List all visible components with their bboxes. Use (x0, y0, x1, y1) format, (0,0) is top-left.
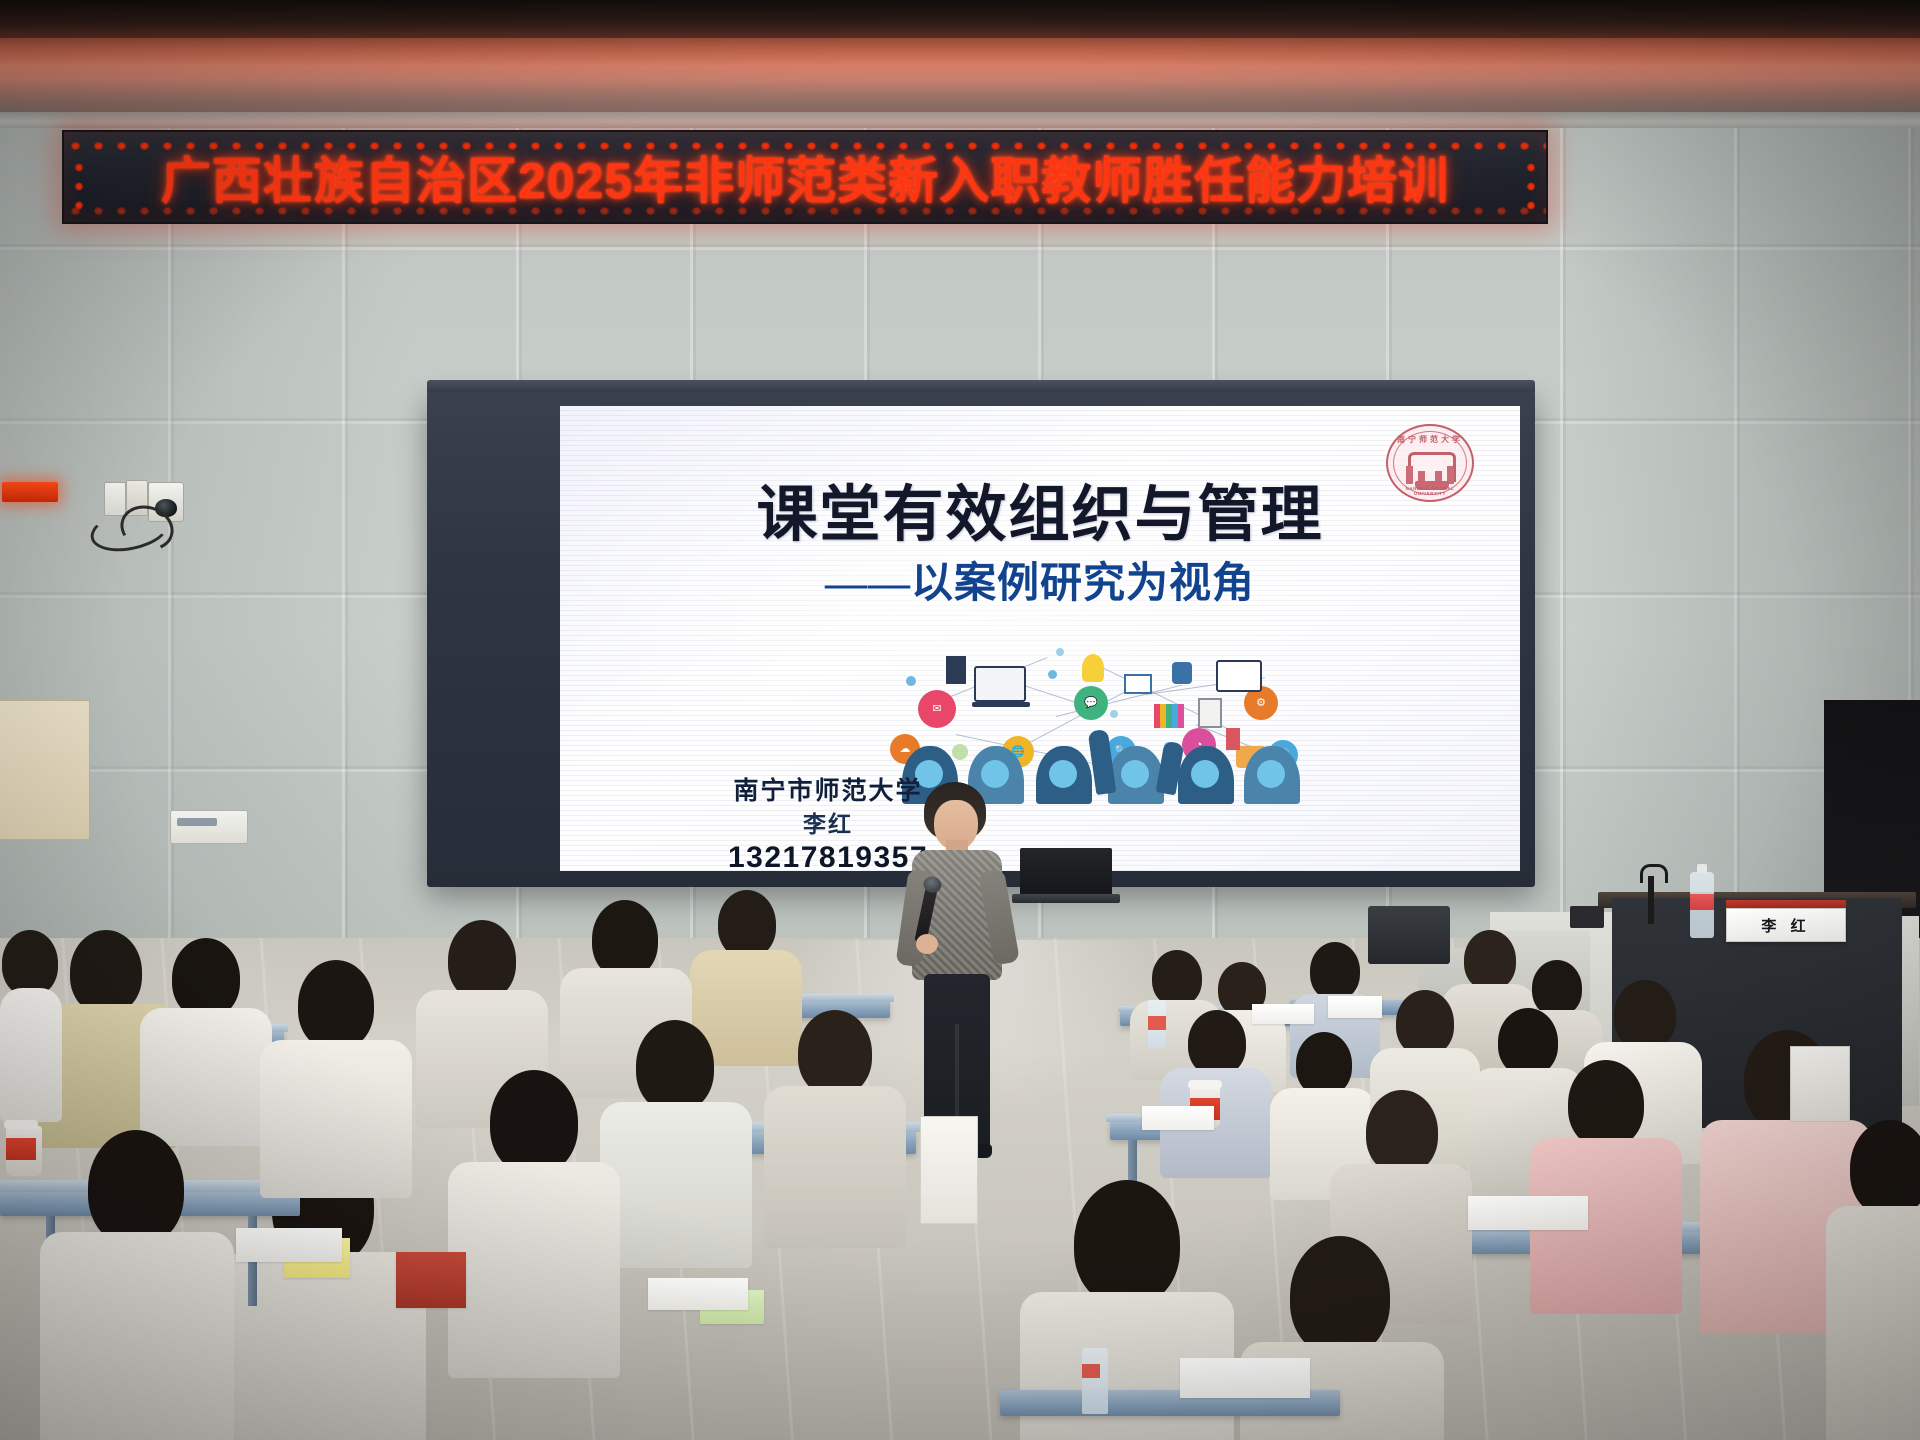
cup-lid (4, 1120, 38, 1129)
person-body (600, 1102, 752, 1268)
ig-dot (906, 676, 916, 686)
ig-icon-document (1198, 698, 1222, 728)
red-booklet (396, 1252, 466, 1308)
ig-head (1244, 746, 1300, 804)
presentation-slide: 南宁师范大学 NANNING NORMAL UNIVERSITY 课堂有效组织与… (560, 406, 1520, 871)
person-head (592, 900, 658, 978)
person-head (1396, 990, 1454, 1056)
person-head (1366, 1090, 1438, 1174)
ig-head (1178, 746, 1234, 804)
presenter-hand (916, 934, 938, 954)
person-head (798, 1010, 872, 1096)
led-banner: 广西壮族自治区2025年非师范类新入职教师胜任能力培训 (62, 130, 1548, 224)
slide-subtitle: ——以案例研究为视角 (560, 558, 1520, 610)
lecture-hall-scene: 广西壮族自治区2025年非师范类新入职教师胜任能力培训 南宁师范大学 (0, 0, 1920, 1440)
person-head (1152, 950, 1202, 1006)
person-head (1296, 1032, 1352, 1096)
person-head (2, 930, 58, 996)
person-head (1614, 980, 1676, 1050)
ig-icon-bulb (1082, 654, 1104, 682)
person-head (1074, 1180, 1180, 1306)
person-body (0, 988, 62, 1122)
wall-panel-left (0, 700, 90, 840)
person-head (1568, 1060, 1644, 1148)
screen-frame-top-trim (427, 380, 1535, 392)
tote-bag (920, 1116, 978, 1224)
person-body (448, 1162, 620, 1378)
person-head (298, 960, 374, 1050)
person-head (1464, 930, 1516, 990)
ig-icon-bargraph (1154, 704, 1184, 728)
ig-dot (1048, 670, 1057, 679)
person-body (764, 1086, 906, 1248)
person-head (1290, 1236, 1390, 1356)
ig-dot (1056, 648, 1064, 656)
person-head (1850, 1120, 1920, 1216)
presenter-person (890, 782, 1020, 1162)
audience-person (1826, 1120, 1920, 1440)
person-head (490, 1070, 578, 1174)
podium-nameplate-text: 李 红 (1761, 915, 1810, 936)
podium-monitor (1368, 906, 1450, 964)
person-head (88, 1130, 184, 1246)
person-head (172, 938, 240, 1018)
ig-icon-laptop-base (972, 702, 1030, 707)
person-head (448, 920, 516, 1000)
slide-title: 课堂有效组织与管理 (560, 478, 1520, 550)
ceiling (0, 0, 1920, 120)
ig-dot (1110, 710, 1118, 718)
ig-icon-envelope (1124, 674, 1152, 694)
led-banner-text: 广西壮族自治区2025年非师范类新入职教师胜任能力培训 (64, 152, 1546, 210)
ig-icon-tablet (1216, 660, 1262, 692)
ig-icon-person (946, 656, 966, 684)
ig-head (1108, 746, 1164, 804)
person-body (140, 1008, 272, 1146)
water-bottle-podium[interactable] (1690, 872, 1714, 938)
paper-sheet (236, 1228, 342, 1262)
laptop-screen (1020, 848, 1112, 896)
notebook-page (1468, 1196, 1588, 1230)
paper-sheet (1142, 1106, 1214, 1130)
ig-node-mail: ✉ (918, 690, 956, 728)
paper-sheet (648, 1278, 748, 1310)
ceiling-dark-band (0, 0, 1920, 38)
person-head (1188, 1010, 1246, 1076)
shopping-bag (1790, 1046, 1850, 1122)
person-head (636, 1020, 714, 1112)
control-panel[interactable] (170, 810, 248, 844)
ig-icon-laptop (974, 666, 1026, 702)
audience-person (764, 1010, 904, 1240)
ig-head (1036, 746, 1092, 804)
notebook-page (1180, 1358, 1310, 1398)
audience-person (600, 1020, 750, 1260)
seal-chinese-text: 南宁师范大学 (1388, 434, 1472, 445)
audience-person (140, 938, 270, 1138)
audience-person (1530, 1060, 1680, 1310)
laptop-base (1012, 894, 1120, 903)
person-head (1310, 942, 1360, 1000)
audience-person (0, 930, 60, 1120)
audience-person (260, 960, 410, 1190)
person-body (1826, 1206, 1920, 1440)
audience-person (448, 1070, 618, 1370)
person-body (40, 1232, 234, 1440)
cup-lid (1188, 1080, 1222, 1089)
person-head (70, 930, 142, 1014)
podium-nameplate: 李 红 (1726, 908, 1846, 942)
microphone-stand[interactable] (1648, 876, 1654, 924)
drink-cup[interactable] (6, 1126, 42, 1176)
emergency-light (2, 482, 58, 502)
person-body (260, 1040, 412, 1198)
podium-equipment-box (1570, 906, 1604, 928)
projection-surface: 南宁师范大学 NANNING NORMAL UNIVERSITY 课堂有效组织与… (560, 406, 1520, 871)
person-head (718, 890, 776, 958)
ig-node-chat: 💬 (1074, 686, 1108, 720)
water-bottle-desk[interactable] (1082, 1348, 1108, 1414)
audience-person (40, 1130, 230, 1440)
ig-icon-phone (1172, 662, 1192, 684)
